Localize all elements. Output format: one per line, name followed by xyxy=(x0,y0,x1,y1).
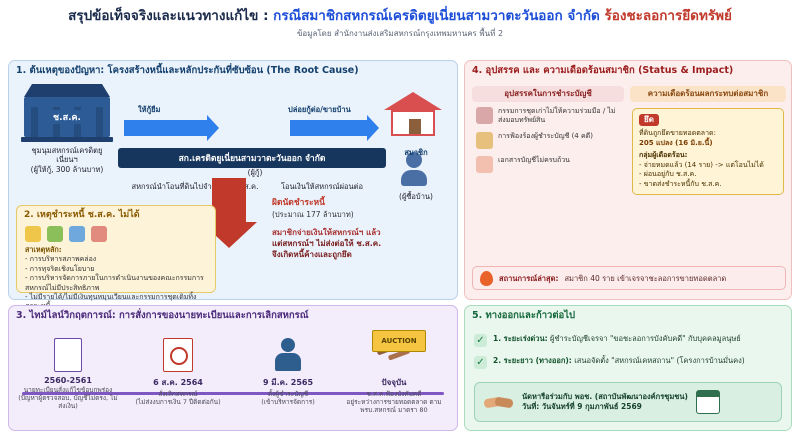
member-note: โอนเงินให้สหกรณ์ผ่อนต่อ xyxy=(272,182,372,191)
way-forward-detail: เสนอจัดตั้ง "สหกรณ์เคหสถาน" (โครงการบ้าน… xyxy=(572,356,745,365)
check-icon: ✓ xyxy=(474,356,487,369)
reason-item: - การบริหารจัดการภายในการดำเนินงานของคณะ… xyxy=(25,274,208,293)
obstacles-column: อุปสรรคในการชำระบัญชี กรรมการชุดเก่าไม่ใ… xyxy=(472,86,624,180)
panel-way-forward-title: 5. ทางออกและก้าวต่อไป xyxy=(465,306,791,323)
missing-files-icon xyxy=(476,156,493,173)
default-note-c: จึงเกิดหนี้ค้างและถูกยึด xyxy=(272,250,446,261)
default-title: ผิดนัดชำระหนี้ xyxy=(272,198,446,209)
page-title-part-c: ร้องชะลอการยึดทรัพย์ xyxy=(605,8,732,24)
list-item: การฟ้องร้องผู้ชำระบัญชี (4 คดี) xyxy=(476,132,622,149)
timeline-item: 2560-2561 นายทะเบียนสั่งแก้ไขข้อบกพร่อง … xyxy=(16,330,120,410)
header: สรุปข้อเท็จจริงและแนวทางแก้ไข : กรณีสมาช… xyxy=(0,0,800,48)
timeline-desc: นายทะเบียนสั่งแก้ไขข้อบกพร่อง (ปัญหาผู้ต… xyxy=(16,386,120,410)
list-item: กรรมการชุดเก่าไม่ให้ความร่วมมือ / ไม่ส่ง… xyxy=(476,107,622,125)
panel-root-cause-title: 1. ต้นเหตุของปัญหา: โครงสร้างหนี้และหลัก… xyxy=(9,61,457,78)
page-title-part-b: กรณีสมาชิกสหกรณ์เครดิตยูเนี่ยนสามวาตะวัน… xyxy=(273,8,604,24)
panel-reasons-title: 2. เหตุชำระหนี้ ช.ส.ค. ไม่ได้ xyxy=(17,206,215,223)
arrow-resell-label: ปล่อยกู้ต่อ/ขายบ้าน xyxy=(288,104,351,116)
cooperative-note: สหกรณ์นำโอนที่ดินไปจำนองกับ ช.ส.ค. xyxy=(120,182,270,191)
way-forward-label: 1. ระยะเร่งด่วน: xyxy=(493,334,548,343)
lawsuit-icon xyxy=(476,132,493,149)
timeline-date: 6 ส.ค. 2564 xyxy=(126,376,230,389)
check-icon: ✓ xyxy=(474,334,487,347)
obstacles-heading: อุปสรรคในการชำระบัญชี xyxy=(472,86,624,102)
seize-badge: ยึด xyxy=(639,114,659,127)
bank-icon: ช.ส.ค. ชุมนุมสหกรณ์เครดิตยูเนี่ยนฯ (ผู้ใ… xyxy=(24,84,110,174)
arrow-default-big xyxy=(212,178,246,224)
officer-icon xyxy=(236,330,340,372)
stamped-document-icon xyxy=(126,330,230,372)
reason-item: - การบริหารสภาพคล่อง xyxy=(25,255,208,264)
seize-group-label: กลุ่มผู้เดือดร้อน: xyxy=(639,151,777,160)
timeline-desc: ตั้งผู้ชำระบัญชี (เข้าบริหารจัดการ) xyxy=(236,390,340,406)
seize-group-item: - จ่ายหมดแล้ว (14 ราย) -> แต่โอนไม่ได้ xyxy=(639,161,777,170)
impact-column: ความเดือดร้อนผลกระทบต่อสมาชิก ยึด ที่ดิน… xyxy=(630,86,786,195)
way-forward-text: 1. ระยะเร่งด่วน: ผู้ชำระบัญชีเจรจา "ขอชะ… xyxy=(493,334,741,344)
status-text: สมาชิก 40 ราย เข้าเจรจาชะลอการขายทอดตลาด xyxy=(564,274,726,283)
auction-sign: AUCTION xyxy=(372,330,426,352)
obstacles-list: กรรมการชุดเก่าไม่ให้ความร่วมมือ / ไม่ส่ง… xyxy=(472,102,624,173)
flame-icon xyxy=(480,271,493,286)
page-subtitle: ข้อมูลโดย สำนักงานส่งเสริมสหกรณ์กรุงเทพม… xyxy=(0,27,800,40)
bank-label: ช.ส.ค. xyxy=(50,110,84,124)
way-forward-text: 2. ระยะยาว (ทางออก): เสนอจัดตั้ง "สหกรณ์… xyxy=(493,356,745,366)
list-item: เอกสารบัญชีไม่ครบถ้วน xyxy=(476,156,622,173)
cooperative-bar: สก.เครดิตยูเนี่ยนสามวาตะวันออก จำกัด xyxy=(118,148,386,168)
chart-down-icon xyxy=(47,226,63,242)
reason-icons xyxy=(17,223,215,244)
way-forward-item: ✓ 2. ระยะยาว (ทางออก): เสนอจัดตั้ง "สหกร… xyxy=(474,356,782,369)
meeting-box: นัดหารือร่วมกับ พอช. (สถาบันพัฒนาองค์กรช… xyxy=(474,382,782,422)
document-icon xyxy=(16,330,120,372)
timeline-date: 2560-2561 xyxy=(16,376,120,385)
panel-status-impact-title: 4. อุปสรรค และ ความเดือดร้อนสมาชิก (Stat… xyxy=(465,61,791,78)
reason-lead: สาเหตุหลัก: xyxy=(25,245,62,254)
page-title: สรุปข้อเท็จจริงและแนวทางแก้ไข : กรณีสมาช… xyxy=(0,0,800,24)
panel-reasons: 2. เหตุชำระหนี้ ช.ส.ค. ไม่ได้ สาเหตุหลัก… xyxy=(16,205,216,293)
handshake-broken-icon xyxy=(476,107,493,124)
page-title-part-a: สรุปข้อเท็จจริงและแนวทางแก้ไข : xyxy=(68,8,273,24)
way-forward-detail: ผู้ชำระบัญชีเจรจา "ขอชะลอการบังคับคดี" ก… xyxy=(548,334,741,343)
way-forward-item: ✓ 1. ระยะเร่งด่วน: ผู้ชำระบัญชีเจรจา "ขอ… xyxy=(474,334,782,347)
panel-timeline-title: 3. ไทม์ไลน์วิกฤตการณ์: การสั่งการของนายท… xyxy=(9,306,457,323)
meeting-line-1: นัดหารือร่วมกับ พอช. (สถาบันพัฒนาองค์กรช… xyxy=(522,392,688,402)
arrow-lend xyxy=(124,120,208,136)
meeting-text: นัดหารือร่วมกับ พอช. (สถาบันพัฒนาองค์กรช… xyxy=(522,392,688,412)
reason-item: - การทุจริตเชิงนโยบาย xyxy=(25,265,208,274)
bank-caption: ชุมนุมสหกรณ์เครดิตยูเนี่ยนฯ (ผู้ให้กู้, … xyxy=(24,146,110,174)
timeline-desc: ช.ส.ค.ฟ้องบังคับคดี อยู่ระหว่างการขายทอด… xyxy=(342,390,446,414)
coins-icon xyxy=(25,226,41,242)
calendar-icon xyxy=(696,390,720,414)
member-label: สมาชิก xyxy=(378,148,454,157)
seize-value: 205 แปลง (16 มิ.ย.นี้) xyxy=(639,139,777,148)
timeline-item: 9 มี.ค. 2565 ตั้งผู้ชำระบัญชี (เข้าบริหา… xyxy=(236,330,340,406)
reason-list: สาเหตุหลัก: - การบริหารสภาพคล่อง - การทุ… xyxy=(17,244,215,312)
obstacle-text: การฟ้องร้องผู้ชำระบัญชี (4 คดี) xyxy=(498,132,593,141)
handshake-icon xyxy=(484,391,514,413)
document-icon xyxy=(69,226,85,242)
default-note-a: สมาชิกจ่ายเงินให้สหกรณ์ฯ แล้ว xyxy=(272,228,446,239)
house-icon xyxy=(384,92,442,136)
cooperative-role: (ผู้กู้) xyxy=(220,168,290,177)
way-forward-label: 2. ระยะยาว (ทางออก): xyxy=(493,356,572,365)
obstacle-text: เอกสารบัญชีไม่ครบถ้วน xyxy=(498,156,570,165)
status-bar: สถานการณ์ล่าสุด: สมาชิก 40 ราย เข้าเจรจา… xyxy=(472,266,786,290)
arrow-lend-label: ให้กู้ยืม xyxy=(138,104,161,116)
timeline-date: 9 มี.ค. 2565 xyxy=(236,376,340,389)
timeline-item: 6 ส.ค. 2564 สั่งเลิกสหกรณ์ (ไม่ส่งงบการเ… xyxy=(126,330,230,406)
seize-group-item: - ขาดส่งชำระหนี้กับ ช.ส.ค. xyxy=(639,180,777,189)
timeline-date: ปัจจุบัน xyxy=(342,376,446,389)
default-note-b: แต่สหกรณ์ฯ ไม่ส่งต่อให้ ช.ส.ค. xyxy=(272,239,446,250)
seize-title: ที่ดินถูกยึดขายทอดตลาด: xyxy=(639,129,777,138)
default-amount: (ประมาณ 177 ล้านบาท) xyxy=(272,209,446,221)
obstacle-text: กรรมการชุดเก่าไม่ให้ความร่วมมือ / ไม่ส่ง… xyxy=(498,107,622,125)
status-label: สถานการณ์ล่าสุด: xyxy=(499,274,558,283)
impact-heading: ความเดือดร้อนผลกระทบต่อสมาชิก xyxy=(630,86,786,102)
timeline-desc: สั่งเลิกสหกรณ์ (ไม่ส่งงบการเงิน 7 ปีติดต… xyxy=(126,390,230,406)
arrow-resell xyxy=(290,120,368,136)
seize-group-item: - ผ่อนอยู่กับ ช.ส.ค. xyxy=(639,170,777,179)
default-note: สมาชิกจ่ายเงินให้สหกรณ์ฯ แล้ว แต่สหกรณ์ฯ… xyxy=(272,228,446,260)
infographic-page: สรุปข้อเท็จจริงและแนวทางแก้ไข : กรณีสมาช… xyxy=(0,0,800,436)
default-block: ผิดนัดชำระหนี้ (ประมาณ 177 ล้านบาท) สมาช… xyxy=(272,198,446,260)
warning-icon xyxy=(91,226,107,242)
meeting-line-2: วันที่: วันจันทร์ที่ 9 กุมภาพันธ์ 2569 xyxy=(522,402,688,412)
seized-land-box: ยึด ที่ดินถูกยึดขายทอดตลาด: 205 แปลง (16… xyxy=(632,108,784,195)
